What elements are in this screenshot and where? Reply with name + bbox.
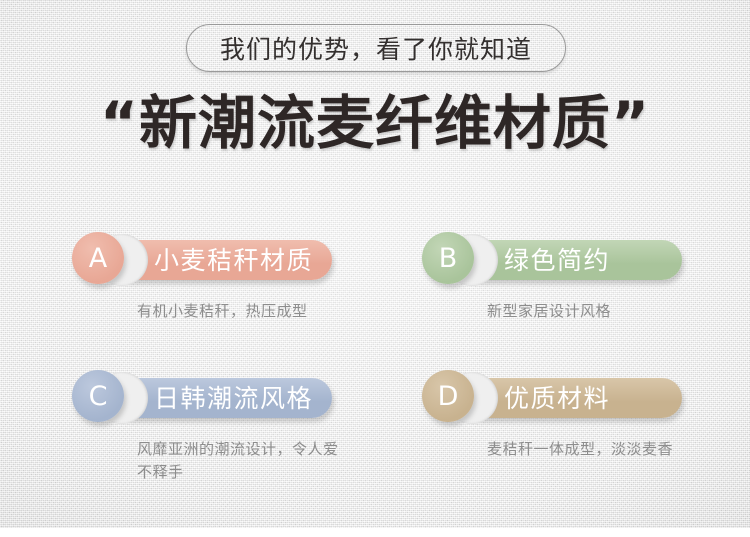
feature-badge-circle-b: B xyxy=(422,232,474,284)
feature-desc-a: 有机小麦秸秆，热压成型 xyxy=(137,300,352,323)
feature-title-b: 绿色简约 xyxy=(504,248,610,273)
feature-badge-a: 小麦秸秆材质 A xyxy=(62,232,332,286)
page-title: “新潮流麦纤维材质” xyxy=(0,92,750,156)
feature-badge-b: 绿色简约 B xyxy=(412,232,682,286)
feature-list: 小麦秸秆材质 A 有机小麦秸秆，热压成型 绿色简约 B 新型家居设计风格 xyxy=(0,232,750,482)
feature-desc-d: 麦秸秆一体成型，淡淡麦香 xyxy=(487,438,702,461)
feature-banner: 我们的优势，看了你就知道 “新潮流麦纤维材质” 小麦秸秆材质 A 有机小麦秸秆，… xyxy=(0,0,750,537)
feature-badge-d: 优质材料 D xyxy=(412,370,682,424)
pill-heading-label: 我们的优势，看了你就知道 xyxy=(220,30,532,66)
next-section-photo-sliver xyxy=(2,533,748,537)
pill-heading: 我们的优势，看了你就知道 xyxy=(186,24,566,72)
feature-title-d: 优质材料 xyxy=(504,386,610,411)
feature-title-c: 日韩潮流风格 xyxy=(154,386,313,411)
feature-badge-circle-d: D xyxy=(422,370,474,422)
feature-letter-c: C xyxy=(89,383,108,410)
feature-badge-c: 日韩潮流风格 C xyxy=(62,370,332,424)
feature-letter-b: B xyxy=(439,245,458,272)
feature-item-c: 日韩潮流风格 C 风靡亚洲的潮流设计，令人爱不释手 xyxy=(62,370,412,485)
feature-desc-b: 新型家居设计风格 xyxy=(487,300,702,323)
feature-badge-circle-c: C xyxy=(72,370,124,422)
feature-item-b: 绿色简约 B 新型家居设计风格 xyxy=(412,232,750,323)
feature-letter-d: D xyxy=(438,383,459,410)
feature-letter-a: A xyxy=(89,245,107,272)
feature-item-d: 优质材料 D 麦秸秆一体成型，淡淡麦香 xyxy=(412,370,750,461)
feature-desc-c: 风靡亚洲的潮流设计，令人爱不释手 xyxy=(137,438,352,485)
feature-item-a: 小麦秸秆材质 A 有机小麦秸秆，热压成型 xyxy=(62,232,412,323)
feature-badge-circle-a: A xyxy=(72,232,124,284)
feature-title-a: 小麦秸秆材质 xyxy=(154,248,313,273)
